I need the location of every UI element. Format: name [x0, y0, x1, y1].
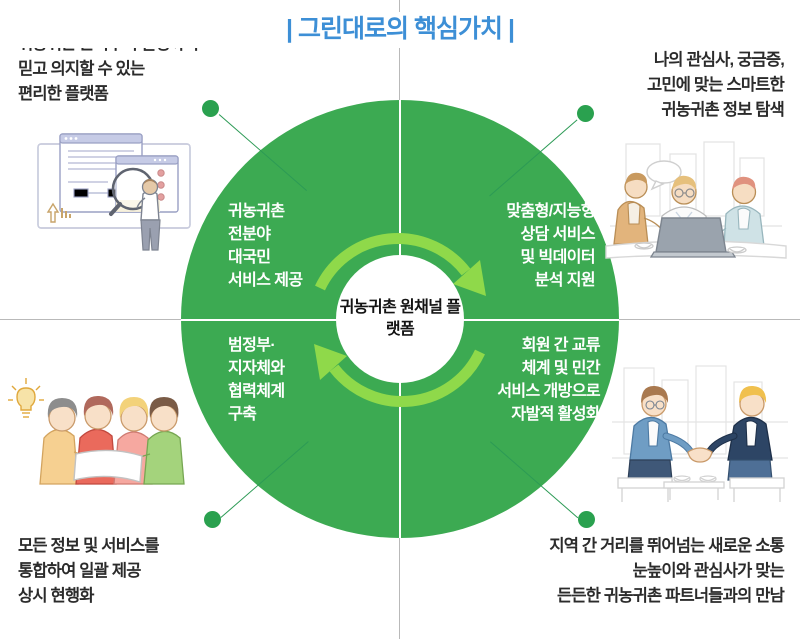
title-text: 그린대로의 핵심가치 — [298, 15, 502, 43]
caption-bottom-right: 지역 간 거리를 뛰어넘는 새로운 소통 눈높이와 관심사가 맞는 든든한 귀농… — [549, 534, 784, 609]
connector-dot-top-right — [577, 105, 594, 122]
infographic-canvas: |그린대로의 핵심가치| — [0, 0, 800, 639]
quadrant-top-right-label: 맞춤형/지능형 상담 서비스 및 빅데이터 분석 지원 — [506, 200, 595, 292]
connector-dot-bottom-right — [578, 511, 595, 528]
connector-dot-bottom-left — [204, 511, 221, 528]
connector-dot-top-left — [202, 100, 219, 117]
caption-bottom-left: 모든 정보 및 서비스를 통합하여 일괄 제공 상시 현행화 — [18, 534, 159, 609]
top-right-illustration — [600, 140, 792, 285]
bottom-right-illustration — [604, 360, 796, 515]
center-platform-badge: 귀농귀촌 원채널 플랫폼 — [336, 255, 464, 383]
team-brainstorm-document-icon — [8, 368, 204, 498]
caption-top-right: 나의 관심사, 궁금증, 고민에 맞는 스마트한 귀농귀촌 정보 탐색 — [647, 48, 784, 123]
title-left-bar: | — [280, 15, 298, 43]
person-searching-screens-icon — [12, 128, 202, 268]
top-left-illustration — [12, 128, 202, 273]
quadrant-bottom-left-label: 범정부· 지자체와 협력체계 구축 — [228, 334, 284, 426]
quadrant-top-left-label: 귀농귀촌 전분야 대국민 서비스 제공 — [228, 200, 302, 292]
people-meeting-laptop-icon — [600, 140, 792, 280]
center-platform-label: 귀농귀촌 원채널 플랫폼 — [336, 297, 464, 341]
quadrant-bottom-right-label: 회원 간 교류 체계 및 민간 서비스 개방으로 자발적 활성화 — [497, 334, 600, 426]
bottom-left-illustration — [8, 368, 204, 503]
page-title: |그린대로의 핵심가치| — [0, 12, 800, 48]
title-right-bar: | — [502, 15, 520, 43]
business-handshake-icon — [604, 360, 796, 510]
